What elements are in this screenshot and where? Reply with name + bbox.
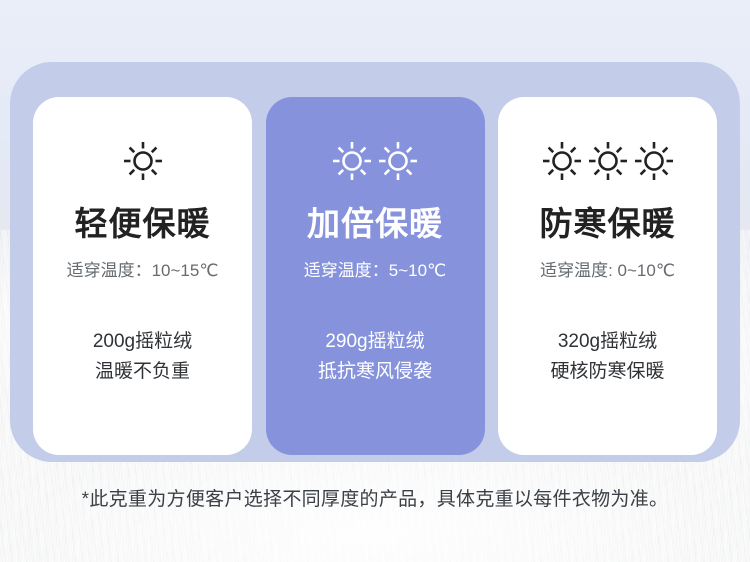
card-detail-line: 温暖不负重 — [93, 357, 192, 387]
card-detail-line: 200g摇粒绒 — [93, 327, 192, 357]
card-title: 加倍保暖 — [307, 207, 443, 240]
sun-icon — [330, 139, 374, 183]
card-temperature: 适穿温度：5~10℃ — [304, 262, 446, 279]
card-title: 轻便保暖 — [75, 207, 211, 240]
card-title: 防寒保暖 — [540, 207, 676, 240]
footnote: *此克重为方便客户选择不同厚度的产品，具体克重以每件衣物为准。 — [0, 490, 750, 509]
card-detail-line: 硬核防寒保暖 — [550, 357, 664, 387]
card-detail-line: 抵抗寒风侵袭 — [318, 357, 432, 387]
card-detail: 290g摇粒绒 抵抗寒风侵袭 — [318, 327, 432, 387]
sun-icon-group — [540, 133, 676, 189]
sun-icon — [540, 139, 584, 183]
sun-icon — [121, 139, 165, 183]
card-temperature: 适穿温度：10~15℃ — [67, 262, 219, 279]
warmth-card-light[interactable]: 轻便保暖 适穿温度：10~15℃ 200g摇粒绒 温暖不负重 — [33, 97, 252, 455]
product-warmth-infographic: 轻便保暖 适穿温度：10~15℃ 200g摇粒绒 温暖不负重 — [0, 0, 750, 562]
card-detail-line: 320g摇粒绒 — [550, 327, 664, 357]
warmth-card-cold[interactable]: 防寒保暖 适穿温度: 0~10℃ 320g摇粒绒 硬核防寒保暖 — [498, 97, 717, 455]
warmth-card-list: 轻便保暖 适穿温度：10~15℃ 200g摇粒绒 温暖不负重 — [33, 97, 717, 455]
sun-icon-group — [330, 133, 420, 189]
sun-icon — [632, 139, 676, 183]
warmth-card-double[interactable]: 加倍保暖 适穿温度：5~10℃ 290g摇粒绒 抵抗寒风侵袭 — [266, 97, 485, 455]
sun-icon — [586, 139, 630, 183]
card-temperature: 适穿温度: 0~10℃ — [540, 262, 675, 279]
card-detail: 320g摇粒绒 硬核防寒保暖 — [550, 327, 664, 387]
card-detail-line: 290g摇粒绒 — [318, 327, 432, 357]
card-detail: 200g摇粒绒 温暖不负重 — [93, 327, 192, 387]
sun-icon-group — [121, 133, 165, 189]
sun-icon — [376, 139, 420, 183]
